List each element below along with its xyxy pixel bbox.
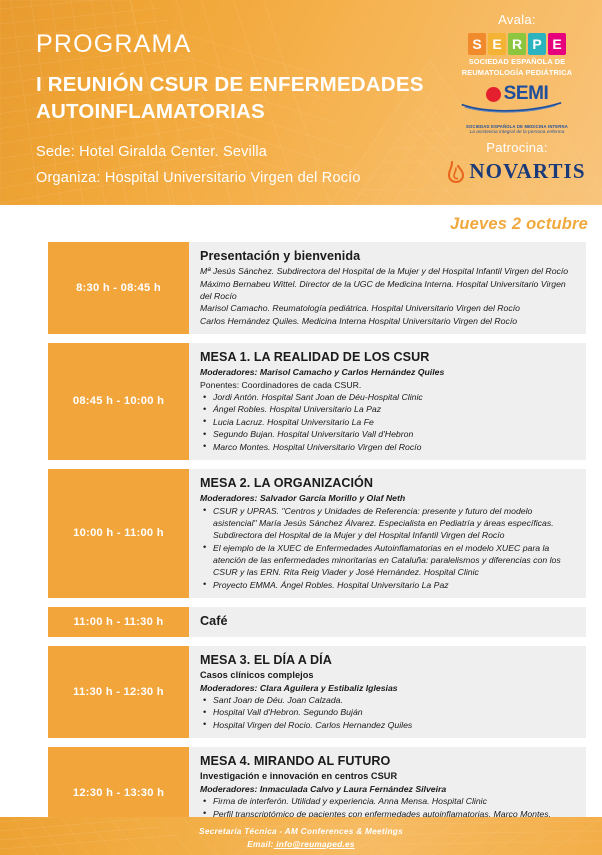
row-content: MESA 2. LA ORGANIZACIÓNModeradores: Salv… (189, 469, 586, 598)
day-heading: Jueves 2 octubre (0, 205, 602, 242)
row-bullet-item: CSUR y UPRAS. "Centros y Unidades de Ref… (200, 505, 576, 542)
program-schedule: 8:30 h - 08:45 hPresentación y bienvenid… (0, 242, 602, 855)
row-time-slot: 8:30 h - 08:45 h (48, 242, 189, 334)
row-bullet-item: Hospital Vall d'Hebron. Segundo Buján (200, 706, 576, 718)
serpe-tile-e-1: E (488, 33, 506, 55)
row-title: Presentación y bienvenida (200, 248, 576, 264)
row-content: Presentación y bienvenidaMª Jesús Sánche… (189, 242, 586, 334)
program-row: 11:00 h - 11:30 hCafé (48, 607, 586, 637)
semi-caption-line2: La asistencia integral de la persona enf… (442, 129, 592, 134)
row-content: MESA 3. EL DÍA A DÍACasos clínicos compl… (189, 646, 586, 738)
semi-dot-icon (486, 87, 501, 102)
row-title: MESA 2. LA ORGANIZACIÓN (200, 475, 576, 491)
serpe-tile-p-3: P (528, 33, 546, 55)
row-moderators: Moderadores: Salvador García Morillo y O… (200, 492, 576, 504)
program-row: 10:00 h - 11:00 hMESA 2. LA ORGANIZACIÓN… (48, 469, 586, 598)
row-bullet-list: Sant Joan de Déu. Joan Calzada.Hospital … (200, 694, 576, 731)
event-organizer: Organiza: Hospital Universitario Virgen … (36, 167, 456, 191)
serpe-tile-r-2: R (508, 33, 526, 55)
row-detail-line: Mª Jesús Sánchez. Subdirectora del Hospi… (200, 265, 576, 277)
row-bullet-item: Jordi Antón. Hospital Sant Joan de Déu-H… (200, 391, 576, 403)
serpe-tile-s-0: S (468, 33, 486, 55)
page-header: PROGRAMA I REUNIÓN CSUR DE ENFERMEDADES … (0, 0, 602, 205)
row-bullet-list: Jordi Antón. Hospital Sant Joan de Déu-H… (200, 391, 576, 453)
row-detail-line: Marisol Camacho. Reumatología pediátrica… (200, 302, 576, 314)
novartis-flame-icon (448, 161, 464, 183)
program-row: 8:30 h - 08:45 hPresentación y bienvenid… (48, 242, 586, 334)
semi-swoosh-icon (460, 102, 563, 114)
row-bullet-item: Firma de interferón. Utilidad y experien… (200, 795, 576, 807)
footer-email-label: Email: (247, 839, 273, 849)
event-venue: Sede: Hotel Giralda Center. Sevilla (36, 141, 456, 165)
row-time-slot: 10:00 h - 11:00 h (48, 469, 189, 598)
row-time-slot: 11:30 h - 12:30 h (48, 646, 189, 738)
row-bullet-item: Lucia Lacruz. Hospital Universitario La … (200, 416, 576, 428)
page-title-programa: PROGRAMA (36, 30, 456, 59)
row-bullet-item: Marco Montes. Hospital Universitario Vir… (200, 441, 576, 453)
footer-email-link[interactable]: info@reumaped.es (274, 839, 355, 849)
row-time-slot: 08:45 h - 10:00 h (48, 343, 189, 460)
patrocina-label: Patrocina: (442, 140, 592, 155)
serpe-caption-line1: SOCIEDAD ESPAÑOLA DE (442, 57, 592, 66)
row-moderators: Moderadores: Marisol Camacho y Carlos He… (200, 366, 576, 378)
row-bullet-item: Proyecto EMMA. Ángel Robles. Hospital Un… (200, 579, 576, 591)
footer-contact: Secretaría Técnica - AM Conferences & Me… (0, 817, 602, 851)
row-detail-line: Ponentes: Coordinadores de cada CSUR. (200, 379, 576, 391)
serpe-tile-e-4: E (548, 33, 566, 55)
serpe-caption-line2: REUMATOLOGÍA PEDIÁTRICA (442, 68, 592, 77)
program-page: PROGRAMA I REUNIÓN CSUR DE ENFERMEDADES … (0, 0, 602, 855)
page-footer: Secretaría Técnica - AM Conferences & Me… (0, 817, 602, 855)
row-moderators: Moderadores: Inmaculada Calvo y Laura Fe… (200, 783, 576, 795)
program-row: 11:30 h - 12:30 hMESA 3. EL DÍA A DÍACas… (48, 646, 586, 738)
row-bullet-list: CSUR y UPRAS. "Centros y Unidades de Ref… (200, 505, 576, 591)
novartis-wordmark: NOVARTIS (469, 159, 585, 184)
row-subtitle: Casos clínicos complejos (200, 669, 576, 681)
avala-label: Avala: (442, 12, 592, 27)
novartis-logo: NOVARTIS (442, 159, 592, 184)
row-bullet-item: Hospital Virgen del Rocio. Carlos Hernan… (200, 719, 576, 731)
row-moderators: Moderadores: Clara Aguilera y Estibaliz … (200, 682, 576, 694)
row-title: MESA 3. EL DÍA A DÍA (200, 652, 576, 668)
row-title: MESA 4. MIRANDO AL FUTURO (200, 753, 576, 769)
row-bullet-item: El ejemplo de la XUEC de Enfermedades Au… (200, 542, 576, 579)
header-logos: Avala: SERPE SOCIEDAD ESPAÑOLA DE REUMAT… (442, 12, 592, 184)
row-subtitle: Investigación e innovación en centros CS… (200, 770, 576, 782)
row-bullet-item: Ángel Robles. Hospital Universitario La … (200, 403, 576, 415)
row-title: MESA 1. LA REALIDAD DE LOS CSUR (200, 349, 576, 365)
footer-secretaria: Secretaría Técnica - AM Conferences & Me… (0, 825, 602, 838)
serpe-logo: SERPE SOCIEDAD ESPAÑOLA DE REUMATOLOGÍA … (442, 33, 592, 77)
event-title: I REUNIÓN CSUR DE ENFERMEDADES AUTOINFLA… (36, 71, 456, 125)
row-title: Café (200, 613, 228, 629)
row-bullet-item: Segundo Bujan. Hospital Universitario Va… (200, 428, 576, 440)
row-detail-line: Máximo Bernabeu Wittel. Director de la U… (200, 278, 576, 303)
row-detail-line: Carlos Hernández Quiles. Medicina Intern… (200, 315, 576, 327)
semi-logo: SEMI (442, 83, 592, 123)
row-time-slot: 11:00 h - 11:30 h (48, 607, 189, 637)
header-text-block: PROGRAMA I REUNIÓN CSUR DE ENFERMEDADES … (36, 30, 456, 191)
row-bullet-item: Sant Joan de Déu. Joan Calzada. (200, 694, 576, 706)
row-content: Café (189, 607, 586, 637)
program-row: 08:45 h - 10:00 hMESA 1. LA REALIDAD DE … (48, 343, 586, 460)
footer-email-line: Email: info@reumaped.es (0, 838, 602, 851)
row-content: MESA 1. LA REALIDAD DE LOS CSURModerador… (189, 343, 586, 460)
